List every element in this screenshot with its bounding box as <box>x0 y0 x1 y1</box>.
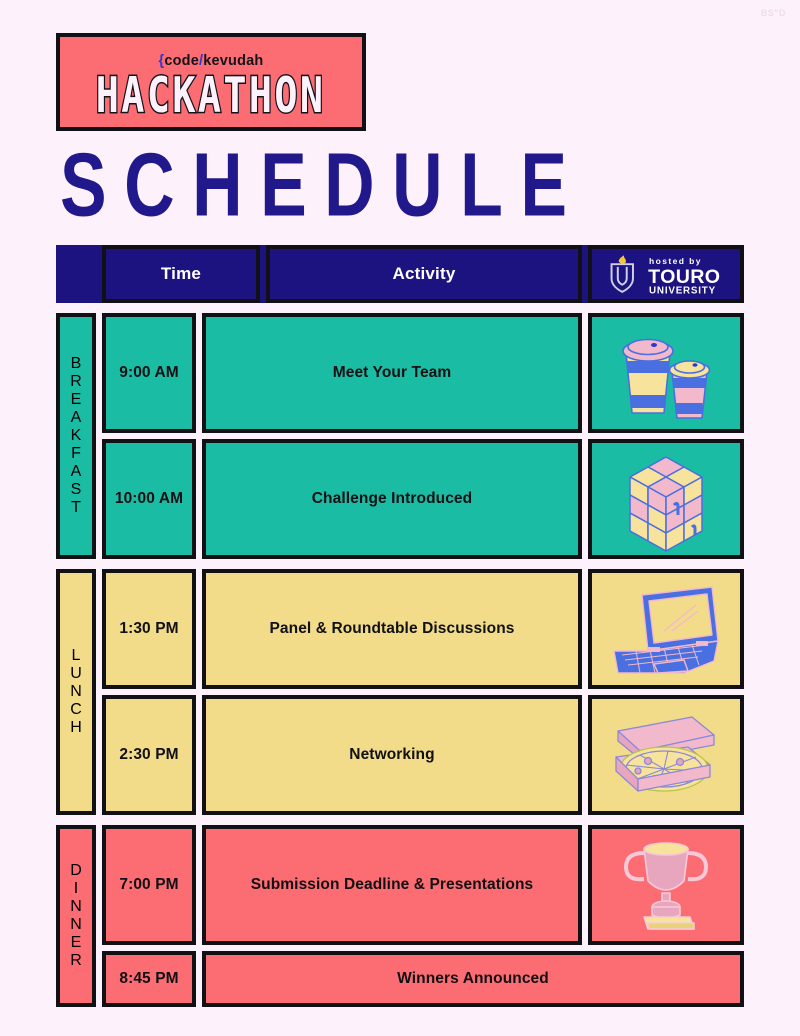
row-time-text: 2:30 PM <box>111 746 186 764</box>
header-time-label: Time <box>153 264 209 284</box>
row-art-cell <box>588 825 744 945</box>
laptop-illustration <box>592 573 740 685</box>
meal-letter: N <box>70 683 82 701</box>
meal-block-breakfast: B R E A K F A S T 9:00 AM Meet Your Team <box>56 313 744 559</box>
touro-university-logo: hosted by TOURO UNIVERSITY <box>592 249 740 299</box>
row-art-cell <box>588 439 744 559</box>
row-time-text: 8:45 PM <box>111 970 186 988</box>
rubiks-cube-illustration <box>592 443 740 555</box>
meal-letter: F <box>71 445 81 463</box>
row-time-text: 9:00 AM <box>111 364 187 382</box>
row-time-cell: 2:30 PM <box>102 695 196 815</box>
row-activity-cell: Panel & Roundtable Discussions <box>202 569 582 689</box>
table-row: 8:45 PM Winners Announced <box>102 951 744 1007</box>
meal-letter: N <box>70 898 82 916</box>
meal-letter: A <box>71 463 82 481</box>
pizza-box-illustration <box>592 699 740 811</box>
meal-letter: N <box>70 916 82 934</box>
meal-block-dinner: D I N N E R 7:00 PM Submission Deadline … <box>56 825 744 1007</box>
row-time-text: 7:00 PM <box>111 876 186 894</box>
table-row: 1:30 PM Panel & Roundtable Discussions <box>102 569 744 689</box>
schedule-table: Time Activity hosted by TOURO UNIVERSITY… <box>56 245 744 1017</box>
bsd-corner-mark: BS"D <box>761 8 786 18</box>
meal-letter: U <box>70 665 82 683</box>
meal-letter: K <box>71 427 82 445</box>
meal-letter: A <box>71 409 82 427</box>
meal-letter: C <box>70 701 82 719</box>
meal-letter: I <box>74 880 78 898</box>
table-row: 10:00 AM Challenge Introduced <box>102 439 744 559</box>
row-activity-cell: Submission Deadline & Presentations <box>202 825 582 945</box>
meal-letter: E <box>71 934 82 952</box>
table-row: 9:00 AM Meet Your Team <box>102 313 744 433</box>
row-art-cell <box>588 569 744 689</box>
row-activity-text: Meet Your Team <box>325 364 460 382</box>
header-activity-label: Activity <box>384 264 463 284</box>
header-cell-activity: Activity <box>266 245 582 303</box>
row-activity-cell: Meet Your Team <box>202 313 582 433</box>
meal-rows-lunch: 1:30 PM Panel & Roundtable Discussions <box>102 569 744 815</box>
header-meal-spacer <box>56 245 96 303</box>
meal-rows-breakfast: 9:00 AM Meet Your Team <box>102 313 744 559</box>
meal-letter: B <box>71 355 82 373</box>
row-activity-text: Panel & Roundtable Discussions <box>261 620 522 638</box>
logo-code-text: code <box>164 53 199 69</box>
table-row: 7:00 PM Submission Deadline & Presentati… <box>102 825 744 945</box>
meal-letter: R <box>70 373 82 391</box>
sponsor-name-text: TOURO <box>648 266 720 288</box>
sponsor-hosted-by-text: hosted by <box>649 256 702 266</box>
row-art-cell <box>588 313 744 433</box>
table-header-row: Time Activity hosted by TOURO UNIVERSITY <box>56 245 744 303</box>
touro-shield-icon <box>612 255 633 292</box>
row-time-cell: 7:00 PM <box>102 825 196 945</box>
page-title: SCHEDULE <box>60 141 584 231</box>
row-activity-cell: Winners Announced <box>202 951 744 1007</box>
table-row: 2:30 PM Networking <box>102 695 744 815</box>
meal-letter: T <box>71 499 81 517</box>
meal-block-lunch: L U N C H 1:30 PM Panel & Roundtable Dis… <box>56 569 744 815</box>
row-activity-text: Challenge Introduced <box>304 490 480 508</box>
row-time-text: 1:30 PM <box>111 620 186 638</box>
meal-letter: D <box>70 862 82 880</box>
trophy-illustration <box>592 829 740 941</box>
logo-kevudah-text: kevudah <box>203 53 263 69</box>
hackathon-logo: {code/kevudah HACKATHON <box>56 33 366 131</box>
row-time-cell: 10:00 AM <box>102 439 196 559</box>
row-activity-cell: Challenge Introduced <box>202 439 582 559</box>
row-time-cell: 1:30 PM <box>102 569 196 689</box>
row-time-text: 10:00 AM <box>107 490 191 508</box>
meal-label-breakfast: B R E A K F A S T <box>56 313 96 559</box>
row-activity-text: Submission Deadline & Presentations <box>243 876 542 894</box>
header-cell-time: Time <box>102 245 260 303</box>
logo-hackathon-word: HACKATHON <box>96 71 326 120</box>
coffee-cups-illustration <box>592 317 740 429</box>
row-activity-text: Networking <box>341 746 442 764</box>
meal-letter: S <box>71 481 82 499</box>
meal-letter: E <box>71 391 82 409</box>
meal-letter: H <box>70 719 82 737</box>
row-time-cell: 8:45 PM <box>102 951 196 1007</box>
row-activity-cell: Networking <box>202 695 582 815</box>
row-activity-text: Winners Announced <box>389 970 557 988</box>
meal-letter: L <box>72 647 81 665</box>
row-time-cell: 9:00 AM <box>102 313 196 433</box>
meal-label-dinner: D I N N E R <box>56 825 96 1007</box>
meal-letter: R <box>70 952 82 970</box>
logo-kicker: {code/kevudah <box>159 53 264 69</box>
meal-rows-dinner: 7:00 PM Submission Deadline & Presentati… <box>102 825 744 1007</box>
header-cell-sponsor: hosted by TOURO UNIVERSITY <box>588 245 744 303</box>
sponsor-subtitle-text: UNIVERSITY <box>649 286 716 297</box>
row-art-cell <box>588 695 744 815</box>
meal-label-lunch: L U N C H <box>56 569 96 815</box>
